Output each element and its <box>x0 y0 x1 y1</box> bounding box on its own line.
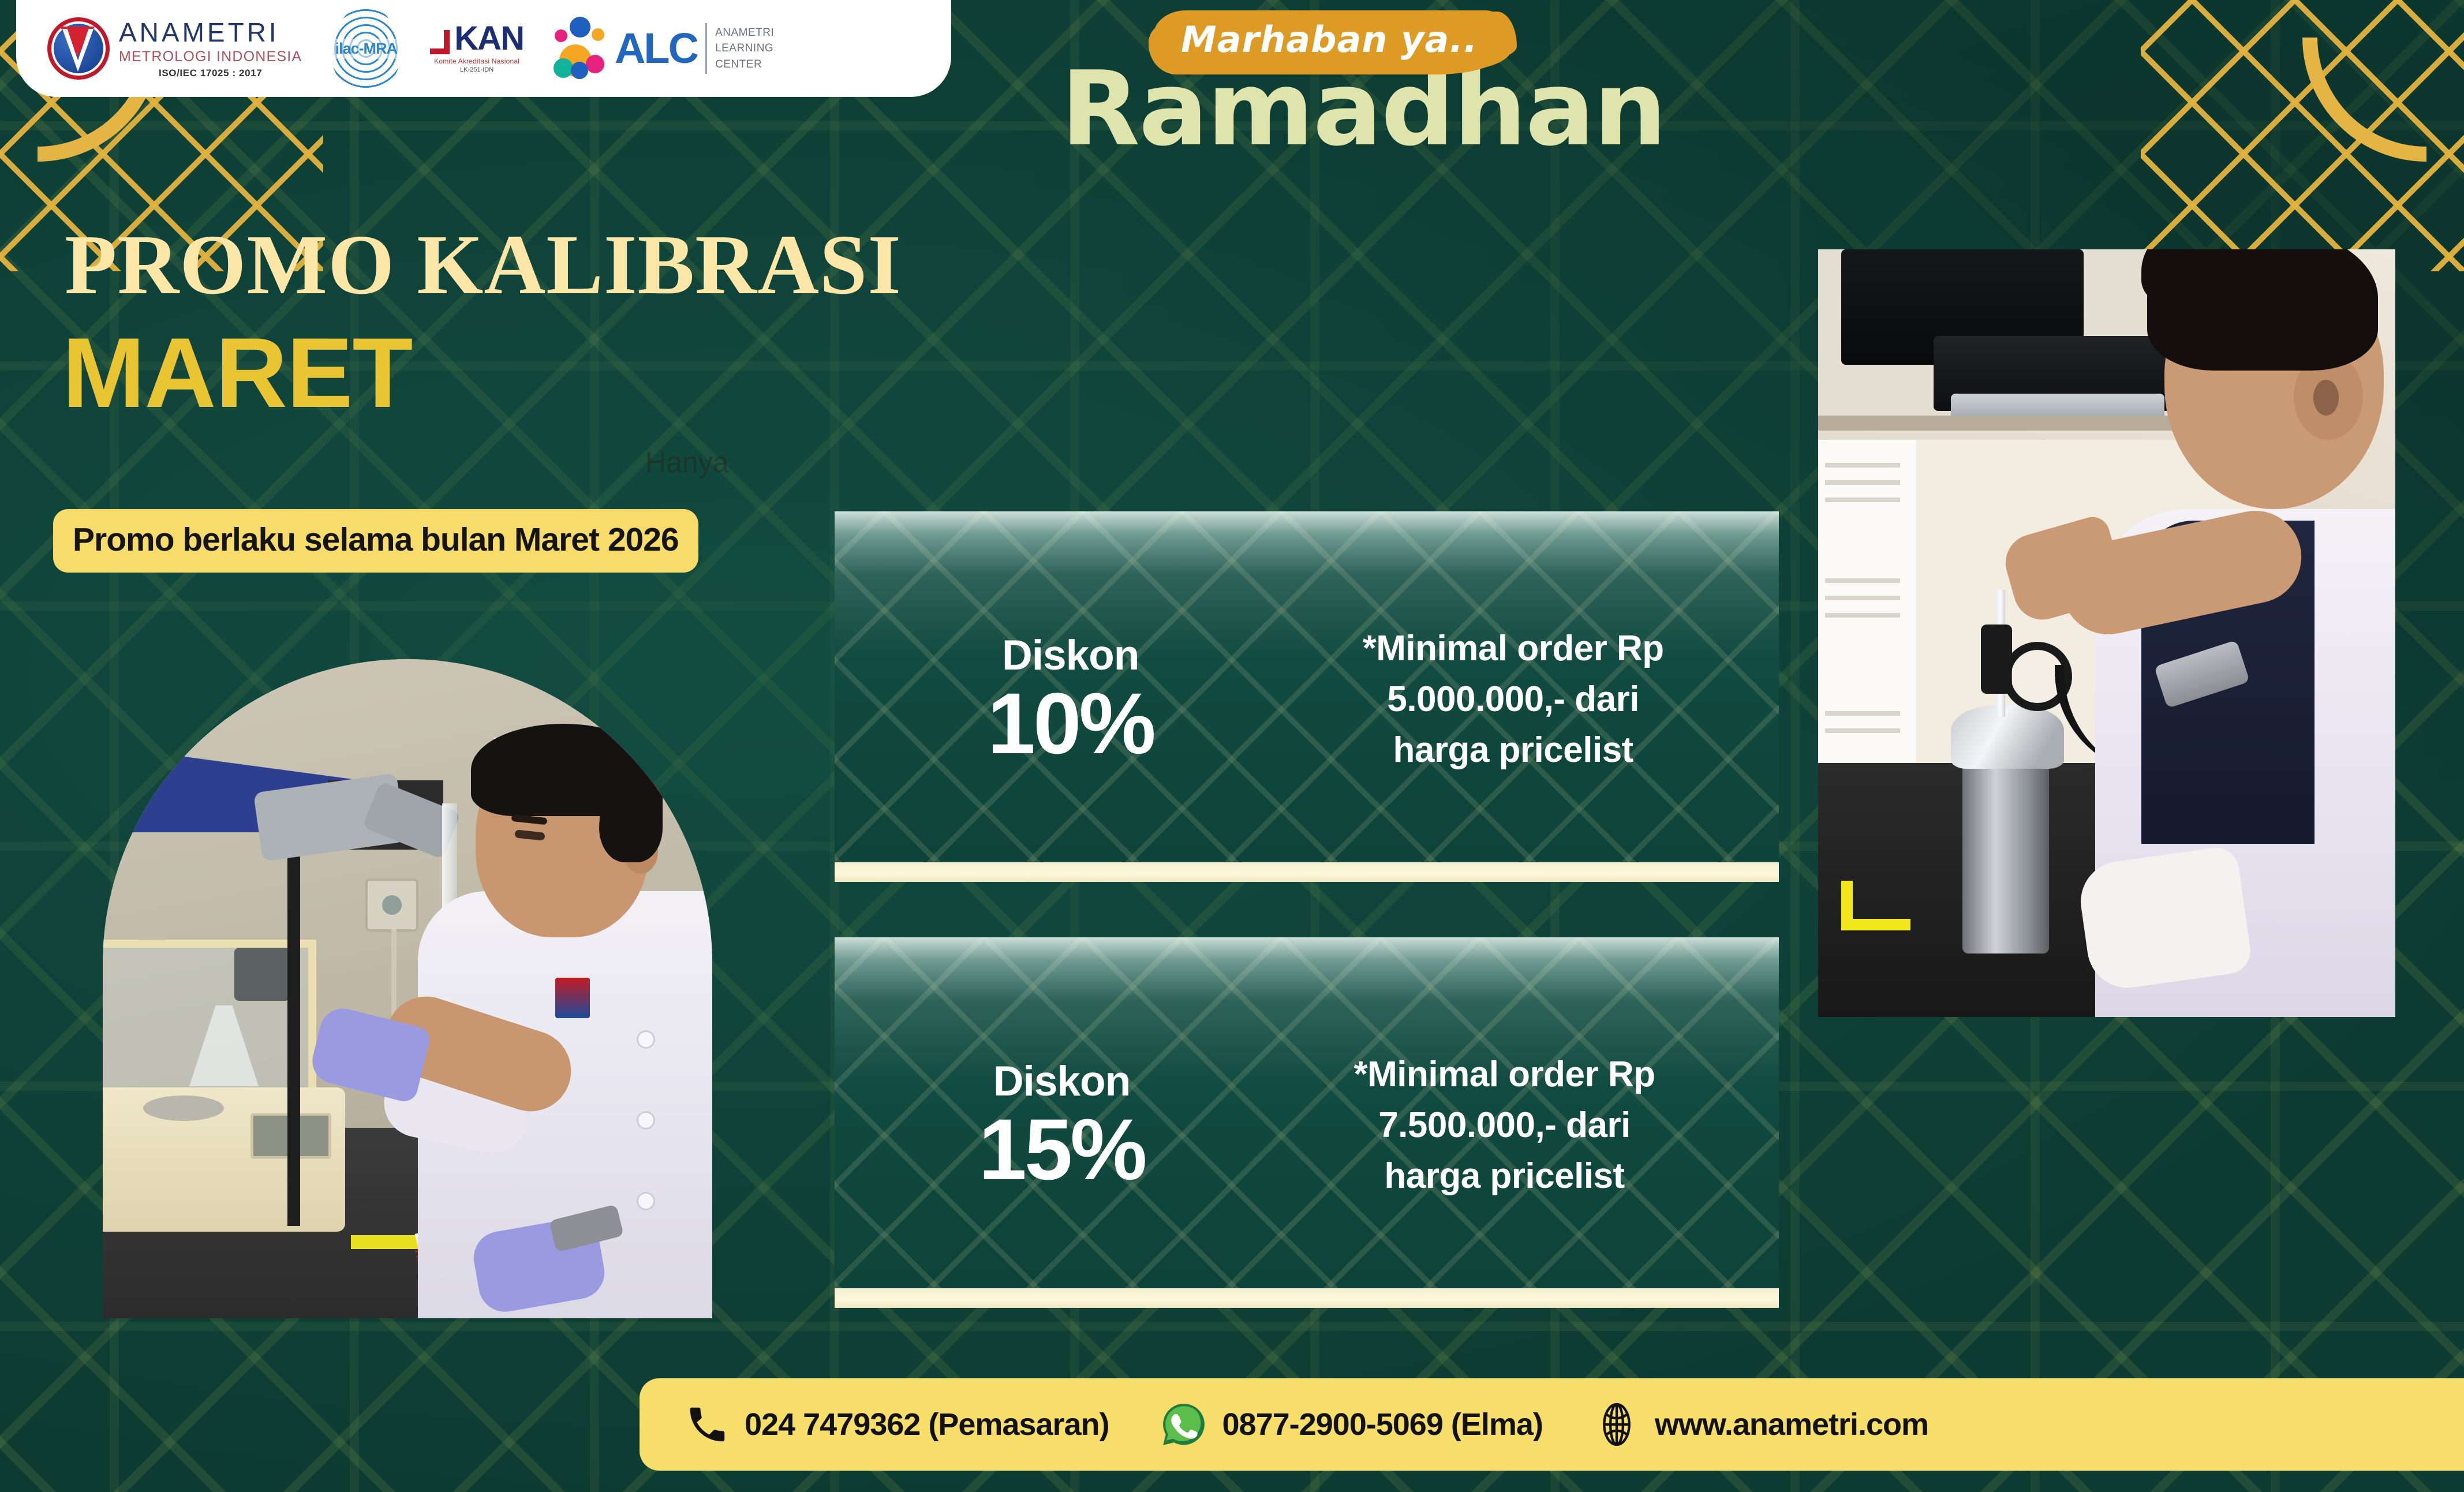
marhaban-brush-badge: Marhaban ya.. <box>1153 10 1511 72</box>
anametri-wordmark: ANAMETRI <box>119 19 302 46</box>
discount-percent: 10% <box>869 679 1272 768</box>
anametri-logo: ANAMETRI METROLOGI INDONESIA ISO/IEC 170… <box>47 17 302 80</box>
alc-line3: CENTER <box>715 57 774 73</box>
offer-card-list: Diskon 10% *Minimal order Rp 5.000.000,-… <box>835 511 1779 1363</box>
ramadhan-word: Ramadhan <box>1061 62 1743 156</box>
whatsapp-icon <box>1160 1401 1207 1448</box>
alc-logo: ALC ANAMETRI LEARNING CENTER <box>554 17 774 80</box>
alc-lightbulb-people-icon <box>554 17 607 80</box>
condition-line-1: *Minimal order Rp <box>1363 629 1664 668</box>
accreditation-logo-bar: ANAMETRI METROLOGI INDONESIA ISO/IEC 170… <box>16 0 951 97</box>
promo-validity-text: Promo berlaku selama bulan Maret 2026 <box>73 521 679 558</box>
marhaban-text: Marhaban ya.. <box>1181 18 1478 61</box>
condition-line-3: harga pricelist <box>1393 730 1633 770</box>
condition-line-2: 5.000.000,- dari <box>1387 679 1639 719</box>
contact-whatsapp[interactable]: 0877-2900-5069 (Elma) <box>1160 1401 1543 1448</box>
promo-poster: ANAMETRI METROLOGI INDONESIA ISO/IEC 170… <box>0 0 2464 1492</box>
alc-line2: LEARNING <box>715 40 774 57</box>
discount-condition: *Minimal order Rp 5.000.000,- dari harga… <box>1272 623 1744 776</box>
kan-logo: KAN Komite Akreditasi Nasional LK-251-ID… <box>430 24 524 73</box>
condition-line-3: harga pricelist <box>1384 1156 1624 1196</box>
discount-condition: *Minimal order Rp 7.500.000,- dari harga… <box>1254 1049 1744 1202</box>
kan-subtitle: Komite Akreditasi Nasional <box>434 57 519 65</box>
contact-phone[interactable]: 024 7479362 (Pemasaran) <box>685 1402 1109 1447</box>
website-url: www.anametri.com <box>1655 1407 1928 1442</box>
offer-card-15: Diskon 15% *Minimal order Rp 7.500.000,-… <box>835 937 1779 1308</box>
discount-label: Diskon <box>869 1057 1254 1105</box>
anametri-tagline: METROLOGI INDONESIA <box>119 50 302 64</box>
kan-code: LK-251-IDN <box>460 66 493 73</box>
contact-footer-bar: 024 7479362 (Pemasaran) 0877-2900-5069 (… <box>640 1378 2464 1471</box>
promo-month: MARET <box>62 323 413 422</box>
ramadhan-headline: Marhaban ya.. Ramadhan <box>1050 10 1743 156</box>
photo-analytical-balance-calibration: TIMBANGAN ANALITIK 220g <box>103 659 712 1318</box>
condition-line-2: 7.500.000,- dari <box>1378 1105 1631 1145</box>
discount-percent: 15% <box>869 1105 1254 1194</box>
kan-wordmark: KAN <box>454 24 524 54</box>
watermark-text: Hanya <box>645 446 729 479</box>
alc-line1: ANAMETRI <box>715 25 774 41</box>
alc-divider <box>705 23 707 74</box>
contact-website[interactable]: www.anametri.com <box>1594 1401 1928 1448</box>
ilac-mra-fingerprint-icon: ilac-MRA <box>332 5 400 92</box>
discount-label: Diskon <box>869 631 1272 679</box>
phone-icon <box>685 1402 730 1447</box>
condition-line-1: *Minimal order Rp <box>1354 1055 1655 1094</box>
phone-number: 024 7479362 (Pemasaran) <box>745 1407 1109 1442</box>
page-title: PROMO KALIBRASI <box>65 222 902 308</box>
globe-icon <box>1594 1401 1640 1448</box>
alc-wordmark: ALC <box>615 31 697 67</box>
anametri-v-emblem-icon <box>47 17 110 80</box>
promo-validity-badge: Promo berlaku selama bulan Maret 2026 <box>53 509 698 573</box>
offer-card-10: Diskon 10% *Minimal order Rp 5.000.000,-… <box>835 511 1779 882</box>
anametri-standard: ISO/IEC 17025 : 2017 <box>119 68 302 78</box>
kan-checkmark-icon <box>430 30 450 54</box>
ilac-mra-label: ilac-MRA <box>333 39 400 59</box>
photo-thermometer-calibration: 0.03 <box>1818 249 2395 1017</box>
whatsapp-number: 0877-2900-5069 (Elma) <box>1222 1407 1543 1442</box>
